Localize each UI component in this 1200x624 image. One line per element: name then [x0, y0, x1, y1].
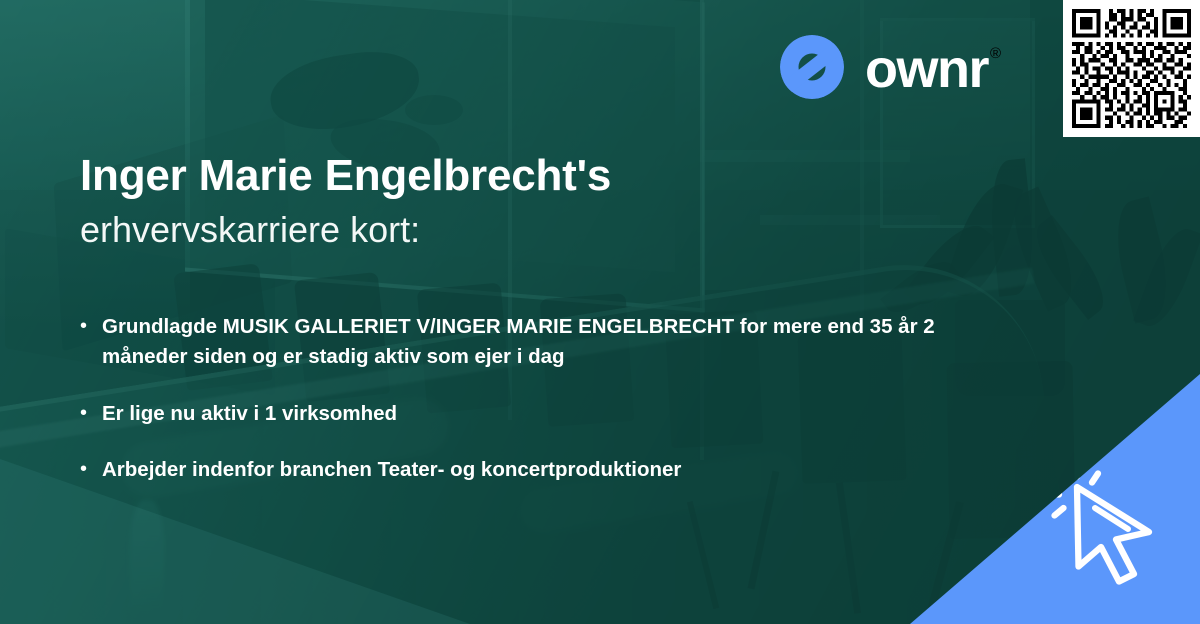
registered-trademark-icon: ® [990, 45, 1001, 62]
ownr-circle-swoosh-icon [778, 33, 846, 101]
business-card-banner: ownr ® [0, 0, 1200, 624]
list-item-text: Grundlagde MUSIK GALLERIET V/INGER MARIE… [102, 312, 1002, 373]
ownr-wordmark: ownr [865, 42, 988, 96]
list-item-text: Arbejder indenfor branchen Teater- og ko… [102, 455, 681, 485]
bullet-marker-icon: • [80, 312, 102, 373]
ownr-logo[interactable]: ownr ® [778, 33, 999, 101]
list-item: • Arbejder indenfor branchen Teater- og … [80, 455, 1040, 485]
list-item-text: Er lige nu aktiv i 1 virksomhed [102, 399, 397, 429]
page-title: Inger Marie Engelbrecht's erhvervskarrie… [80, 152, 900, 254]
title-subtitle: erhvervskarriere kort: [80, 206, 900, 255]
click-cursor-icon [1032, 454, 1182, 604]
career-facts-list: • Grundlagde MUSIK GALLERIET V/INGER MAR… [80, 312, 1040, 485]
title-person-name: Inger Marie Engelbrecht's [80, 152, 900, 200]
bullet-marker-icon: • [80, 455, 102, 485]
list-item: • Er lige nu aktiv i 1 virksomhed [80, 399, 1040, 429]
qr-code-panel[interactable] [1063, 0, 1200, 137]
list-item: • Grundlagde MUSIK GALLERIET V/INGER MAR… [80, 312, 1040, 373]
bullet-marker-icon: • [80, 399, 102, 429]
qr-code[interactable] [1072, 9, 1191, 128]
card-content: ownr ® [0, 0, 1200, 624]
